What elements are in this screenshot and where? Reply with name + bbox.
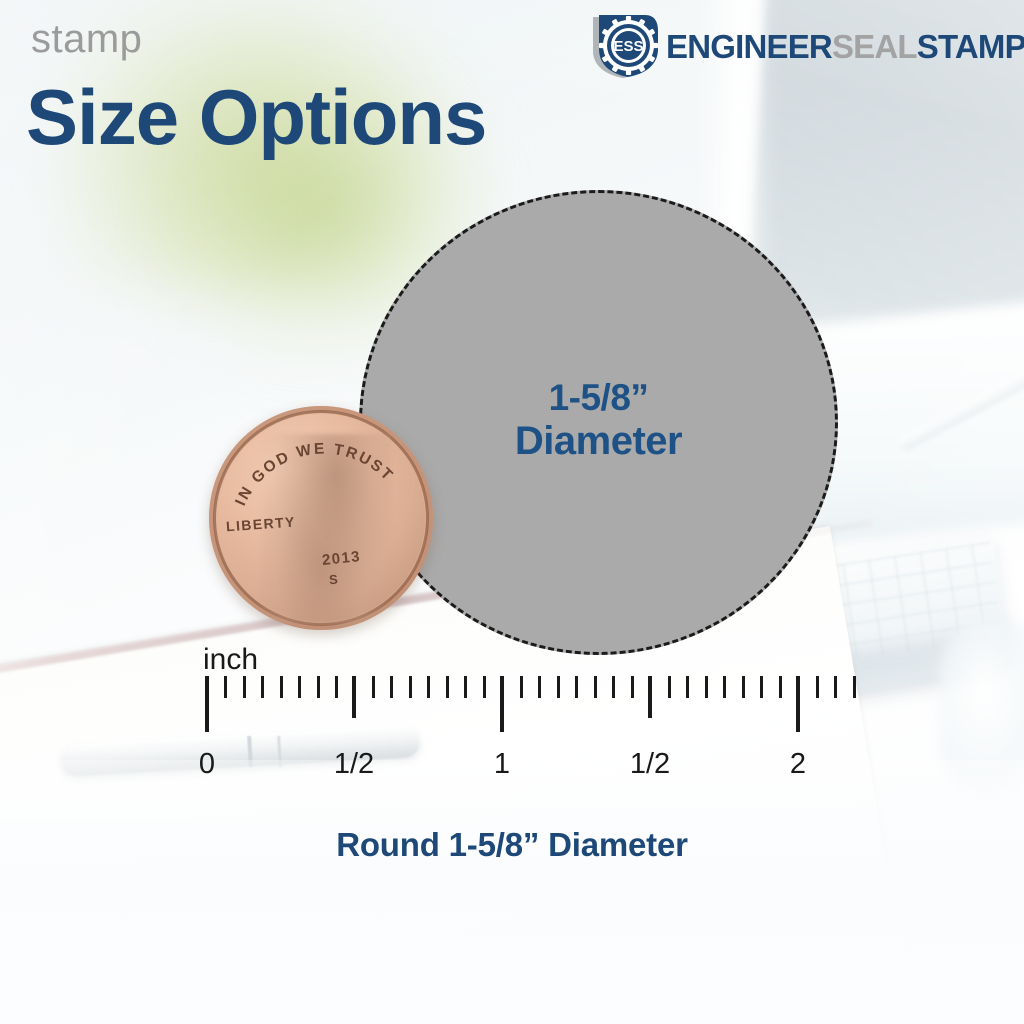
penny-mintmark-text: S <box>328 572 338 588</box>
brand-word-engineer: ENGINEER <box>666 30 832 63</box>
svg-text:IN GOD WE TRUST: IN GOD WE TRUST <box>232 440 397 508</box>
size-caption: Round 1-5/8” Diameter <box>0 826 1024 864</box>
stamp-size-unit: Diameter <box>515 419 682 464</box>
stamp-size-value: 1-5/8” <box>515 377 682 418</box>
brand-wordmark: ENGINEER SEAL STAMPS .COM <box>666 30 1024 63</box>
page-title: Size Options <box>26 78 486 156</box>
brand-word-seal: SEAL <box>832 30 917 63</box>
stamp-dimension-label: 1-5/8” Diameter <box>515 377 682 463</box>
penny-scale-reference: IN GOD WE TRUST LIBERTY 2013 S <box>209 406 433 630</box>
background-bottom-wash <box>0 760 1024 1024</box>
ess-badge-icon: ESS <box>586 11 660 81</box>
brand-word-stamps: STAMPS <box>917 30 1024 63</box>
stamp-size-options-graphic: stamp Size Options <box>0 0 1024 1024</box>
svg-text:ESS: ESS <box>613 38 643 55</box>
eyebrow-label: stamp <box>31 19 142 59</box>
brand-logo[interactable]: ESS ENGINEER SEAL STAMPS .COM <box>586 11 1024 81</box>
